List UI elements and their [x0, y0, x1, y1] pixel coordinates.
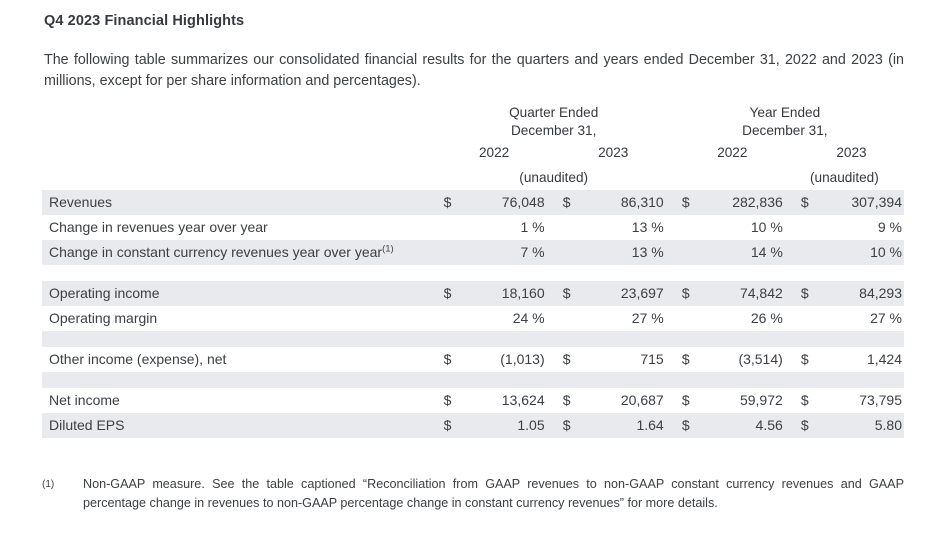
year-header-spacer: [42, 140, 442, 166]
cell-currency-symbol: $: [442, 413, 464, 438]
financial-highlights-table: Quarter Ended December 31, Year Ended De…: [42, 104, 904, 438]
column-gap: [547, 281, 561, 306]
cell-value: 20,687: [583, 388, 666, 413]
table-row: Operating income$18,160$23,697$74,842$84…: [42, 281, 904, 306]
column-gap: [547, 347, 561, 372]
cell-value: 10 %: [702, 215, 785, 240]
column-gap: [785, 347, 799, 372]
cell-value: 13 %: [583, 240, 666, 265]
financial-highlights-page: Q4 2023 Financial Highlights The followi…: [0, 0, 947, 542]
cell-value: (1,013): [464, 347, 547, 372]
table-spacer-cell: [42, 331, 904, 347]
column-header-q-2022: 2022: [442, 140, 547, 166]
row-label: Net income: [42, 388, 442, 413]
column-gap: [785, 281, 799, 306]
cell-value: 9 %: [821, 215, 904, 240]
column-header-q-2023: 2023: [561, 140, 666, 166]
cell-value: 13 %: [583, 215, 666, 240]
table-row: Change in constant currency revenues yea…: [42, 240, 904, 265]
column-gap: [666, 190, 680, 215]
cell-value: 73,795: [821, 388, 904, 413]
group-header-quarter: Quarter Ended December 31,: [442, 104, 666, 140]
unaudited-header-row: (unaudited) (unaudited): [42, 166, 904, 190]
column-gap: [785, 306, 799, 331]
row-label: Change in constant currency revenues yea…: [42, 240, 442, 265]
cell-value: 18,160: [464, 281, 547, 306]
cell-currency-symbol: [561, 215, 583, 240]
gap-3: [785, 140, 799, 166]
table-body: Revenues$76,048$86,310$282,836$307,394Ch…: [42, 190, 904, 438]
row-label: Change in revenues year over year: [42, 215, 442, 240]
unaudited-label-year: (unaudited): [785, 166, 904, 190]
column-gap: [666, 240, 680, 265]
cell-currency-symbol: $: [442, 281, 464, 306]
cell-currency-symbol: $: [799, 347, 821, 372]
gap-2: [666, 140, 680, 166]
cell-value: 86,310: [583, 190, 666, 215]
table-row: Net income$13,624$20,687$59,972$73,795: [42, 388, 904, 413]
column-gap: [666, 215, 680, 240]
table-spacer-row: [42, 372, 904, 388]
unaudited-label-quarter: (unaudited): [442, 166, 666, 190]
cell-currency-symbol: $: [680, 388, 702, 413]
cell-value: 1.05: [464, 413, 547, 438]
cell-value: 76,048: [464, 190, 547, 215]
group-header-year: Year Ended December 31,: [666, 104, 904, 140]
column-gap: [785, 190, 799, 215]
cell-value: 5.80: [821, 413, 904, 438]
column-gap: [666, 388, 680, 413]
cell-currency-symbol: $: [680, 281, 702, 306]
cell-currency-symbol: $: [561, 413, 583, 438]
cell-value: 307,394: [821, 190, 904, 215]
column-gap: [785, 388, 799, 413]
group-header-year-line2: December 31,: [666, 122, 904, 140]
cell-value: 1 %: [464, 215, 547, 240]
cell-currency-symbol: $: [799, 413, 821, 438]
cell-value: 4.56: [702, 413, 785, 438]
table-spacer-row: [42, 331, 904, 347]
cell-currency-symbol: $: [442, 347, 464, 372]
cell-value: 23,697: [583, 281, 666, 306]
row-label: Revenues: [42, 190, 442, 215]
column-gap: [785, 413, 799, 438]
group-header-quarter-line2: December 31,: [442, 122, 666, 140]
table-spacer-cell: [42, 265, 904, 281]
cell-value: 282,836: [702, 190, 785, 215]
table-row: Other income (expense), net$(1,013)$715$…: [42, 347, 904, 372]
footnote-text: Non-GAAP measure. See the table captione…: [83, 475, 904, 512]
cell-value: (3,514): [702, 347, 785, 372]
cell-currency-symbol: [442, 306, 464, 331]
column-gap: [547, 413, 561, 438]
cell-value: 26 %: [702, 306, 785, 331]
table-row: Diluted EPS$1.05$1.64$4.56$5.80: [42, 413, 904, 438]
cell-currency-symbol: [680, 215, 702, 240]
cell-currency-symbol: $: [680, 190, 702, 215]
cell-value: 59,972: [702, 388, 785, 413]
group-header-quarter-line1: Quarter Ended: [509, 105, 598, 120]
row-label-footnote-ref: (1): [382, 243, 394, 254]
row-label: Other income (expense), net: [42, 347, 442, 372]
table-row: Change in revenues year over year1 %13 %…: [42, 215, 904, 240]
cell-currency-symbol: [799, 215, 821, 240]
cell-currency-symbol: $: [561, 388, 583, 413]
year-header-row: 2022 2023 2022 2023: [42, 140, 904, 166]
group-header-spacer: [42, 104, 442, 140]
table-row: Revenues$76,048$86,310$282,836$307,394: [42, 190, 904, 215]
cell-currency-symbol: [680, 240, 702, 265]
column-header-y-2023: 2023: [799, 140, 904, 166]
cell-value: 715: [583, 347, 666, 372]
cell-value: 1.64: [583, 413, 666, 438]
cell-value: 84,293: [821, 281, 904, 306]
column-gap: [547, 190, 561, 215]
cell-value: 14 %: [702, 240, 785, 265]
table-head: Quarter Ended December 31, Year Ended De…: [42, 104, 904, 190]
cell-currency-symbol: [680, 306, 702, 331]
cell-value: 27 %: [821, 306, 904, 331]
gap-1: [547, 140, 561, 166]
cell-value: 7 %: [464, 240, 547, 265]
cell-currency-symbol: $: [799, 388, 821, 413]
column-gap: [547, 240, 561, 265]
cell-value: 10 %: [821, 240, 904, 265]
column-gap: [547, 215, 561, 240]
intro-paragraph: The following table summarizes our conso…: [44, 50, 904, 92]
cell-currency-symbol: $: [561, 281, 583, 306]
column-gap: [666, 347, 680, 372]
cell-currency-symbol: $: [680, 413, 702, 438]
column-header-y-2022: 2022: [680, 140, 785, 166]
unaudited-spacer-mid: [666, 166, 785, 190]
column-gap: [666, 281, 680, 306]
row-label: Operating margin: [42, 306, 442, 331]
cell-currency-symbol: [442, 240, 464, 265]
table-spacer-cell: [42, 372, 904, 388]
column-gap: [666, 306, 680, 331]
row-label: Operating income: [42, 281, 442, 306]
column-gap: [547, 306, 561, 331]
cell-currency-symbol: [561, 306, 583, 331]
page-title: Q4 2023 Financial Highlights: [44, 13, 244, 29]
cell-value: 13,624: [464, 388, 547, 413]
column-gap: [785, 240, 799, 265]
cell-currency-symbol: $: [561, 190, 583, 215]
cell-currency-symbol: [561, 240, 583, 265]
cell-currency-symbol: $: [799, 190, 821, 215]
cell-value: 1,424: [821, 347, 904, 372]
cell-value: 24 %: [464, 306, 547, 331]
column-gap: [785, 215, 799, 240]
cell-currency-symbol: [799, 306, 821, 331]
cell-currency-symbol: $: [680, 347, 702, 372]
cell-value: 74,842: [702, 281, 785, 306]
footnote: (1) Non-GAAP measure. See the table capt…: [42, 475, 904, 512]
table-spacer-row: [42, 265, 904, 281]
cell-currency-symbol: $: [442, 388, 464, 413]
cell-currency-symbol: [442, 215, 464, 240]
cell-value: 27 %: [583, 306, 666, 331]
group-header-row: Quarter Ended December 31, Year Ended De…: [42, 104, 904, 140]
cell-currency-symbol: $: [799, 281, 821, 306]
column-gap: [666, 413, 680, 438]
footnote-marker: (1): [42, 476, 54, 495]
table-row: Operating margin24 %27 %26 %27 %: [42, 306, 904, 331]
cell-currency-symbol: $: [561, 347, 583, 372]
cell-currency-symbol: [799, 240, 821, 265]
unaudited-spacer-left: [42, 166, 442, 190]
group-header-year-line1: Year Ended: [750, 105, 821, 120]
column-gap: [547, 388, 561, 413]
row-label: Diluted EPS: [42, 413, 442, 438]
cell-currency-symbol: $: [442, 190, 464, 215]
